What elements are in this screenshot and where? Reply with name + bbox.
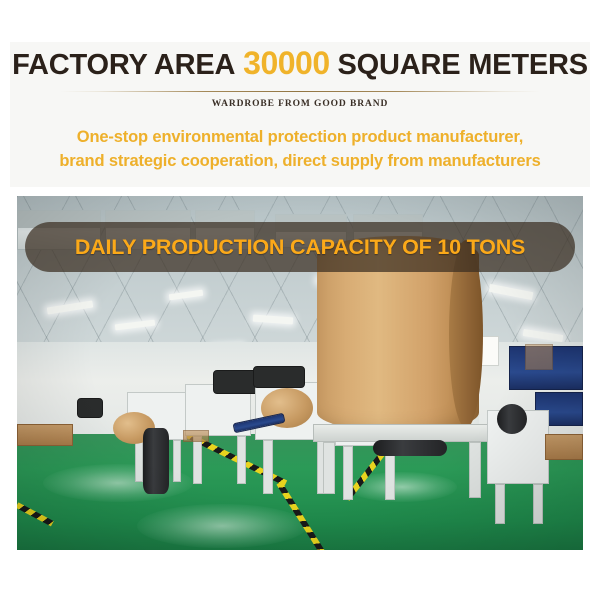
header-divider (60, 91, 540, 92)
machine-head (253, 366, 305, 388)
cardboard-stack (525, 344, 553, 370)
kicker-text: WARDROBE FROM GOOD BRAND (0, 99, 600, 109)
capacity-banner-text: DAILY PRODUCTION CAPACITY OF 10 TONS (75, 235, 525, 260)
subheadline-line-1: One-stop environmental protection produc… (0, 125, 600, 149)
machine-leg (173, 440, 181, 482)
subheadline: One-stop environmental protection produc… (0, 125, 600, 173)
machine-leg (343, 446, 353, 500)
machine-leg (237, 436, 246, 484)
capacity-banner: DAILY PRODUCTION CAPACITY OF 10 TONS (25, 222, 575, 272)
cardboard-box (183, 430, 209, 442)
cardboard-stack (545, 434, 583, 460)
floor-reflection (137, 504, 307, 548)
headline-after: SQUARE METERS (338, 47, 588, 83)
machine-leg (135, 440, 143, 482)
factory-photo: DAILY PRODUCTION CAPACITY OF 10 TONS (17, 196, 583, 550)
machine-leg (193, 436, 202, 484)
cardboard-box (17, 424, 73, 446)
machine-leg (323, 442, 335, 494)
machine-leg (495, 484, 505, 524)
promo-banner-page: FACTORY AREA 30000 SQUARE METERS WARDROB… (0, 0, 600, 600)
floor-reflection (43, 464, 193, 502)
machine-leg (533, 484, 543, 524)
factory-photo-scene: DAILY PRODUCTION CAPACITY OF 10 TONS (17, 196, 583, 550)
page-title: FACTORY AREA 30000 SQUARE METERS (0, 45, 600, 83)
black-drum (497, 404, 527, 434)
machine-leg (263, 440, 273, 494)
black-drum (143, 428, 169, 494)
headline-before: FACTORY AREA (12, 47, 235, 83)
machine-leg (469, 442, 481, 498)
headline-highlight-number: 30000 (243, 45, 329, 81)
machine-head (77, 398, 103, 418)
subheadline-line-2: brand strategic cooperation, direct supp… (0, 149, 600, 173)
roll-shaft (373, 440, 447, 456)
